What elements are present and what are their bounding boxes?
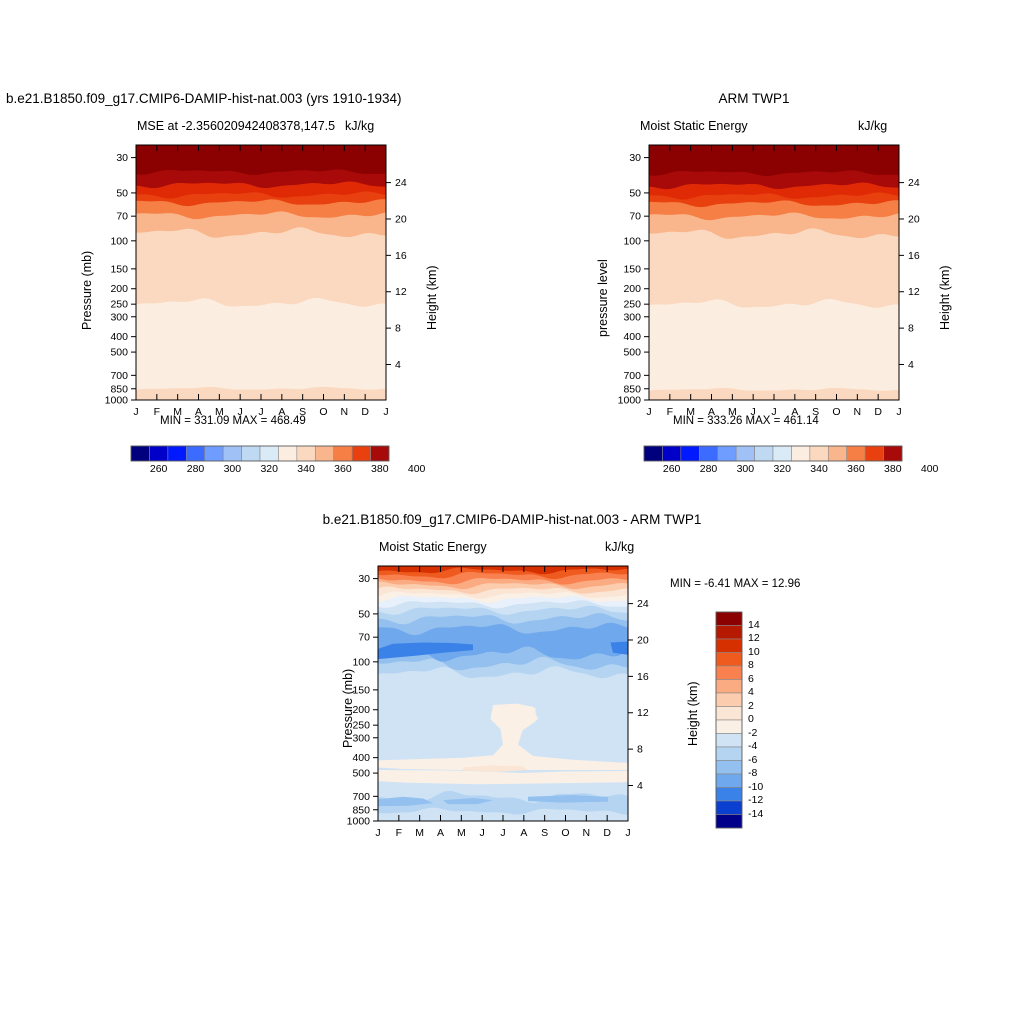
svg-text:J: J [133, 406, 138, 418]
svg-text:J: J [383, 406, 388, 418]
svg-text:N: N [583, 827, 591, 839]
svg-text:850: 850 [352, 804, 370, 816]
svg-text:50: 50 [116, 187, 128, 199]
svg-text:30: 30 [116, 152, 128, 164]
svg-text:J: J [896, 406, 901, 418]
svg-text:J: J [500, 827, 505, 839]
svg-text:A: A [437, 827, 444, 839]
svg-text:J: J [375, 827, 380, 839]
svg-text:24: 24 [908, 177, 920, 189]
colorbar-tick-label: 10 [748, 646, 760, 658]
colorbar-tick-label: 8 [748, 659, 754, 671]
svg-text:150: 150 [110, 263, 128, 275]
diff-minmax: MIN = -6.41 MAX = 12.96 [670, 578, 800, 590]
svg-text:50: 50 [629, 187, 641, 199]
svg-text:4: 4 [395, 359, 401, 371]
svg-text:1000: 1000 [618, 395, 642, 407]
svg-text:O: O [561, 827, 569, 839]
colorbar-tick-label: 300 [214, 463, 250, 475]
colorbar-tick-label: -4 [748, 740, 757, 752]
colorbar-tick-label: -2 [748, 727, 757, 739]
svg-text:16: 16 [908, 250, 920, 262]
colorbar-tick-label: 400 [912, 463, 948, 475]
svg-text:24: 24 [395, 177, 407, 189]
svg-text:D: D [874, 406, 882, 418]
colorbar-tick-label: 320 [251, 463, 287, 475]
colorbar-tick-label: -6 [748, 754, 757, 766]
colorbar-tick-label: -10 [748, 781, 763, 793]
svg-text:M: M [415, 827, 424, 839]
obs-colorbar [640, 443, 910, 465]
svg-text:12: 12 [908, 286, 920, 298]
diff-ylabel-height: Height (km) [686, 681, 700, 746]
colorbar-tick-label: 260 [141, 463, 177, 475]
colorbar-tick-label: 400 [399, 463, 435, 475]
svg-text:500: 500 [110, 347, 128, 359]
model-panel-title: b.e21.B1850.f09_g17.CMIP6-DAMIP-hist-nat… [6, 91, 401, 106]
svg-text:N: N [341, 406, 349, 418]
colorbar-tick-label: 14 [748, 619, 760, 631]
model-minmax: MIN = 331.09 MAX = 468.49 [160, 415, 306, 427]
svg-text:200: 200 [352, 704, 370, 716]
svg-text:300: 300 [623, 311, 641, 323]
colorbar-tick-label: 0 [748, 713, 754, 725]
colorbar-tick-label: -12 [748, 794, 763, 806]
colorbar-tick-label: 280 [178, 463, 214, 475]
svg-text:50: 50 [358, 608, 370, 620]
colorbar-tick-label: 260 [654, 463, 690, 475]
svg-text:100: 100 [623, 235, 641, 247]
svg-text:O: O [319, 406, 327, 418]
svg-text:500: 500 [352, 768, 370, 780]
colorbar-tick-label: 380 [362, 463, 398, 475]
svg-text:8: 8 [908, 323, 914, 335]
diff-colorbar [713, 609, 747, 833]
svg-text:F: F [396, 827, 402, 839]
model-contour-plot: JFMAMJJASONDJ305070100150200250300400500… [40, 130, 440, 450]
colorbar-tick-label: -8 [748, 767, 757, 779]
svg-text:J: J [480, 827, 485, 839]
colorbar-tick-label: -14 [748, 808, 763, 820]
svg-text:12: 12 [395, 286, 407, 298]
svg-text:70: 70 [116, 211, 128, 223]
diff-panel-title: b.e21.B1850.f09_g17.CMIP6-DAMIP-hist-nat… [323, 512, 702, 527]
svg-text:4: 4 [908, 359, 914, 371]
colorbar-tick-label: 340 [801, 463, 837, 475]
svg-text:20: 20 [637, 634, 649, 646]
svg-text:400: 400 [623, 331, 641, 343]
colorbar-tick-label: 2 [748, 700, 754, 712]
svg-text:A: A [520, 827, 527, 839]
svg-text:500: 500 [623, 347, 641, 359]
svg-text:700: 700 [352, 791, 370, 803]
obs-contour-plot: JFMAMJJASONDJ305070100150200250300400500… [553, 130, 953, 450]
svg-text:30: 30 [358, 573, 370, 585]
svg-text:J: J [625, 827, 630, 839]
svg-text:400: 400 [352, 752, 370, 764]
svg-text:300: 300 [352, 732, 370, 744]
svg-text:4: 4 [637, 780, 643, 792]
svg-text:30: 30 [629, 152, 641, 164]
svg-text:250: 250 [352, 720, 370, 732]
svg-text:1000: 1000 [347, 816, 371, 828]
svg-text:O: O [832, 406, 840, 418]
svg-text:200: 200 [110, 283, 128, 295]
colorbar-tick-label: 380 [875, 463, 911, 475]
svg-text:8: 8 [637, 744, 643, 756]
svg-text:N: N [854, 406, 862, 418]
colorbar-tick-label: 280 [691, 463, 727, 475]
svg-text:700: 700 [623, 370, 641, 382]
svg-text:700: 700 [110, 370, 128, 382]
svg-text:12: 12 [637, 707, 649, 719]
svg-text:850: 850 [110, 383, 128, 395]
svg-text:250: 250 [623, 299, 641, 311]
colorbar-tick-label: 6 [748, 673, 754, 685]
svg-text:400: 400 [110, 331, 128, 343]
svg-text:S: S [541, 827, 548, 839]
svg-text:100: 100 [352, 656, 370, 668]
colorbar-tick-label: 340 [288, 463, 324, 475]
colorbar-tick-label: 12 [748, 632, 760, 644]
svg-text:250: 250 [110, 299, 128, 311]
svg-text:16: 16 [637, 671, 649, 683]
svg-text:200: 200 [623, 283, 641, 295]
svg-text:70: 70 [358, 632, 370, 644]
svg-text:M: M [457, 827, 466, 839]
model-colorbar [127, 443, 397, 465]
colorbar-tick-label: 320 [764, 463, 800, 475]
svg-text:20: 20 [908, 213, 920, 225]
svg-text:20: 20 [395, 213, 407, 225]
svg-text:70: 70 [629, 211, 641, 223]
svg-text:300: 300 [110, 311, 128, 323]
colorbar-tick-label: 300 [727, 463, 763, 475]
svg-text:1000: 1000 [105, 395, 129, 407]
colorbar-tick-label: 360 [838, 463, 874, 475]
svg-text:D: D [603, 827, 611, 839]
svg-text:850: 850 [623, 383, 641, 395]
svg-text:24: 24 [637, 598, 649, 610]
diff-contour-plot: JFMAMJJASONDJ305070100150200250300400500… [282, 551, 682, 871]
svg-text:16: 16 [395, 250, 407, 262]
svg-text:8: 8 [395, 323, 401, 335]
svg-text:D: D [361, 406, 369, 418]
obs-minmax: MIN = 333.26 MAX = 461.14 [673, 415, 819, 427]
obs-panel-title: ARM TWP1 [718, 91, 789, 106]
svg-text:150: 150 [352, 684, 370, 696]
svg-text:J: J [646, 406, 651, 418]
svg-text:100: 100 [110, 235, 128, 247]
colorbar-tick-label: 4 [748, 686, 754, 698]
svg-text:150: 150 [623, 263, 641, 275]
colorbar-tick-label: 360 [325, 463, 361, 475]
